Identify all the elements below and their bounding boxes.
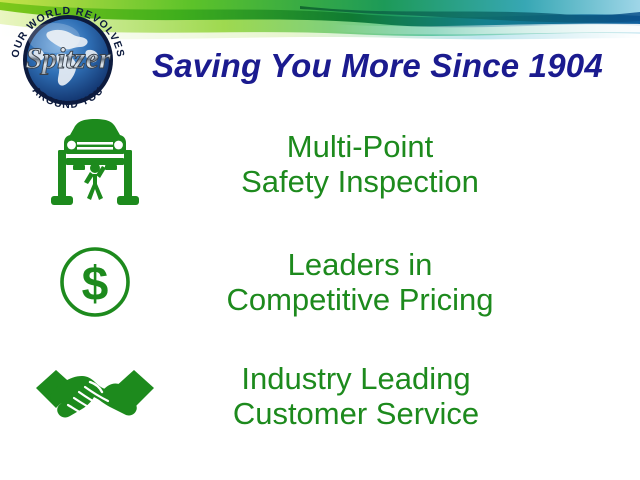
list-item: Multi-Point Safety Inspection [0, 112, 640, 216]
feature-label-service: Industry Leading Customer Service [190, 361, 640, 431]
dollar-circle-icon: $ [0, 232, 190, 332]
svg-text:$: $ [82, 258, 109, 311]
feature-line: Industry Leading [241, 361, 470, 396]
list-item: $ Leaders in Competitive Pricing [0, 230, 640, 334]
promo-slide: OUR WORLD REVOLVES AROUND YOU Spitzer Sa… [0, 0, 640, 480]
feature-line: Leaders in [288, 247, 433, 282]
feature-line: Customer Service [233, 396, 479, 431]
handshake-icon-graphic [34, 354, 156, 438]
feature-line: Safety Inspection [241, 164, 479, 199]
feature-line: Competitive Pricing [226, 282, 493, 317]
list-item: Industry Leading Customer Service [0, 344, 640, 448]
spitzer-logo[interactable]: OUR WORLD REVOLVES AROUND YOU Spitzer [4, 2, 132, 118]
car-lift-icon [0, 114, 190, 214]
feature-list: Multi-Point Safety Inspection $ Leaders … [0, 108, 640, 438]
logo-wordmark: Spitzer [25, 42, 110, 75]
feature-line: Multi-Point [287, 129, 433, 164]
svg-text:Spitzer: Spitzer [25, 42, 110, 75]
dollar-circle-icon-graphic: $ [56, 243, 134, 321]
car-lift-icon-graphic [46, 118, 144, 210]
feature-label-safety: Multi-Point Safety Inspection [190, 129, 640, 199]
page-title: Saving You More Since 1904 [152, 44, 640, 88]
handshake-icon [0, 346, 190, 446]
spitzer-logo-graphic: OUR WORLD REVOLVES AROUND YOU Spitzer [4, 2, 132, 118]
feature-label-pricing: Leaders in Competitive Pricing [190, 247, 640, 317]
